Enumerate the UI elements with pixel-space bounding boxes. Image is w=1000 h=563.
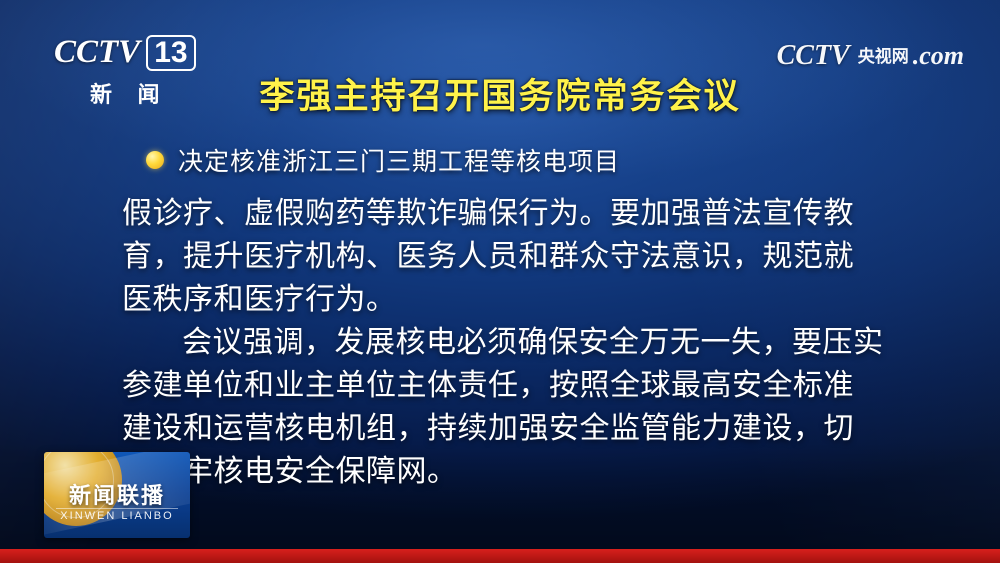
cctv-com-watermark: CCTV 央视网 .com [777, 40, 964, 72]
channel-number-badge: 13 [146, 35, 195, 71]
body-paragraph-2: 会议强调，发展核电必须确保安全万无一失，要压实参建单位和业主单位主体责任，按照全… [122, 321, 884, 493]
program-name-label: 新闻联播 [44, 478, 190, 510]
body-text: 假诊疗、虚假购药等欺诈骗保行为。要加强普法宣传教育，提升医疗机构、医务人员和群众… [122, 192, 884, 493]
bottom-red-bar [0, 549, 1000, 563]
body-paragraph-1: 假诊疗、虚假购药等欺诈骗保行为。要加强普法宣传教育，提升医疗机构、医务人员和群众… [122, 192, 884, 321]
cctv-wordmark: CCTV [54, 34, 140, 71]
subheadline-text: 决定核准浙江三门三期工程等核电项目 [178, 142, 620, 178]
program-badge: 新闻联播 XINWEN LIANBO [44, 452, 190, 538]
broadcast-frame: CCTV 13 新 闻 CCTV 央视网 .com 李强主持召开国务院常务会议 … [0, 0, 1000, 563]
channel-name-label: 新 闻 [80, 77, 170, 109]
channel-logo: CCTV 13 新 闻 [54, 34, 196, 109]
watermark-cctv-text: CCTV [777, 40, 850, 72]
channel-logo-row: CCTV 13 [54, 34, 196, 71]
subheadline-row: 决定核准浙江三门三期工程等核电项目 [146, 142, 620, 178]
program-pinyin-label: XINWEN LIANBO [44, 510, 190, 522]
bullet-dot-icon [146, 151, 164, 169]
watermark-cn-text: 央视网 [858, 48, 909, 65]
watermark-domain-text: .com [913, 41, 964, 71]
badge-divider [56, 508, 178, 509]
